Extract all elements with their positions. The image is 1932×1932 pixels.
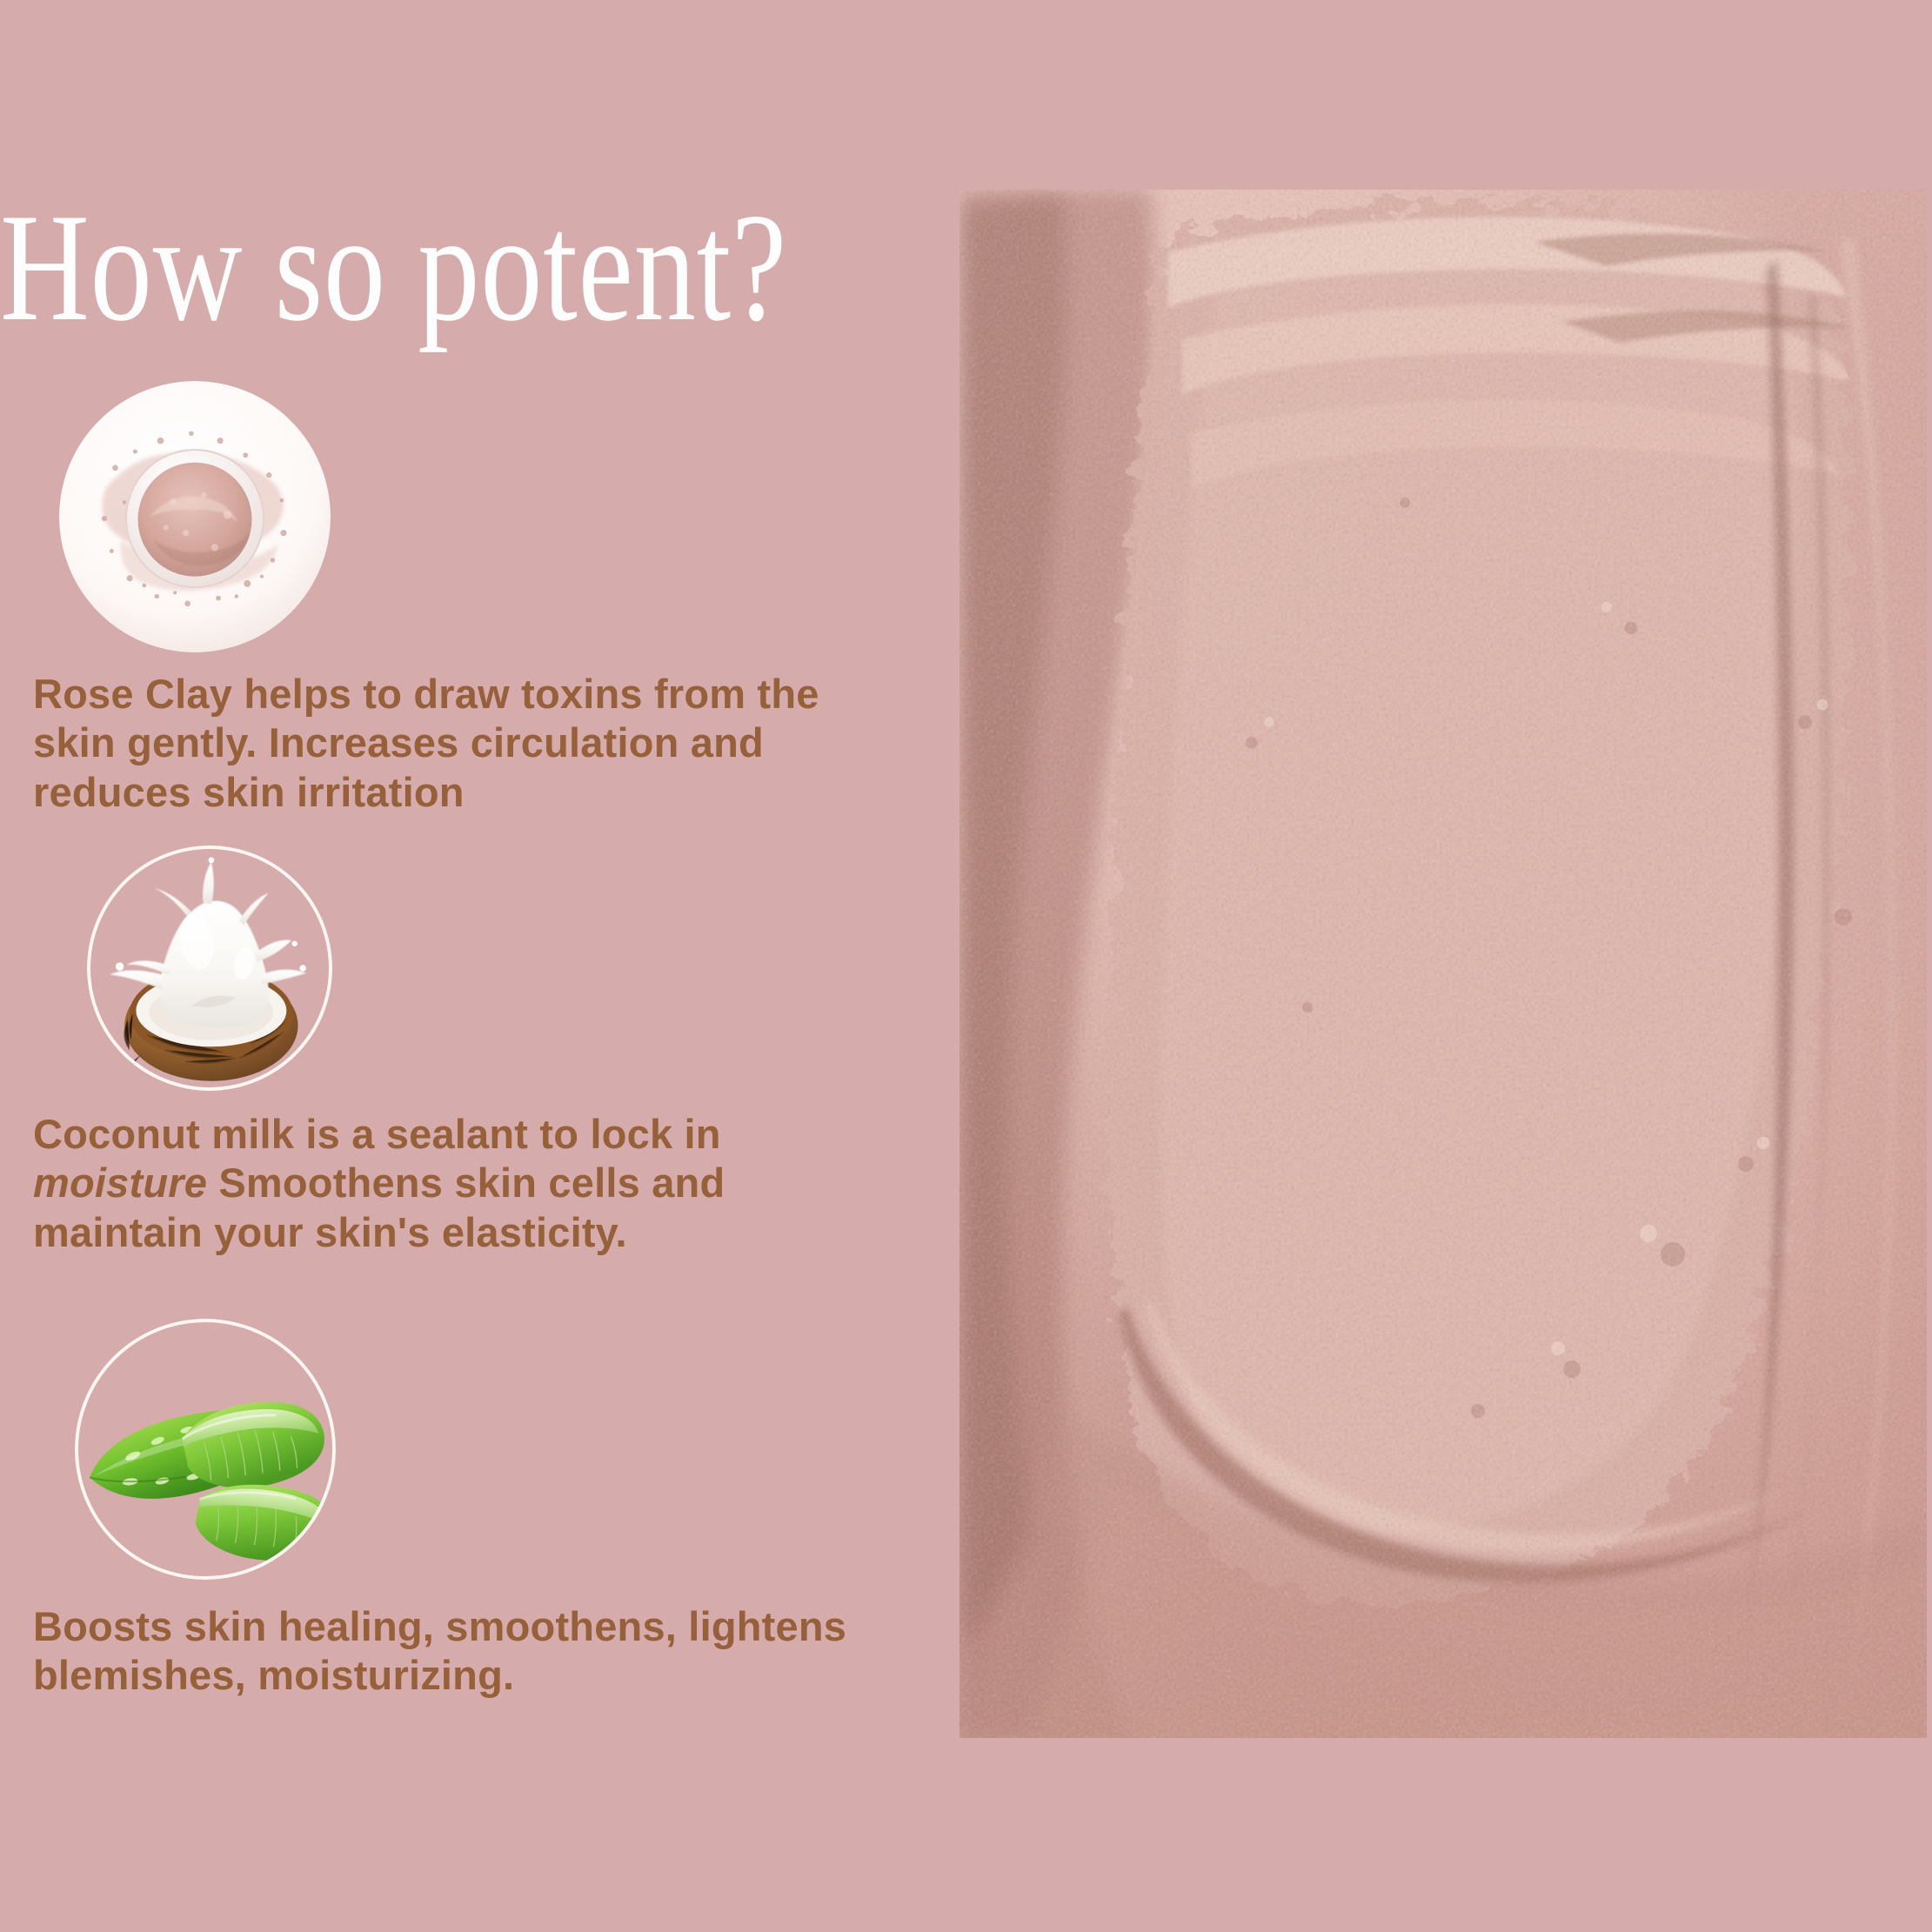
- rose-clay-bowl-icon: [59, 381, 331, 652]
- aloe-vera-leaf-icon: [75, 1319, 336, 1580]
- ingredient-item-aloe-vera: Boosts skin healing, smoothens, lightens…: [0, 1319, 922, 1701]
- coconut-milk-splash-icon: [87, 846, 332, 1091]
- ingredient-description: Boosts skin healing, smoothens, lightens…: [0, 1602, 894, 1701]
- ingredient-text: Rose Clay helps to draw toxins from the …: [33, 671, 819, 815]
- poster-canvas: How so potent?: [0, 0, 1932, 1932]
- ingredient-description: Rose Clay helps to draw toxins from the …: [0, 670, 894, 817]
- ingredient-text: Boosts skin healing, smoothens, lightens…: [33, 1603, 846, 1698]
- pink-clay-powder-texture-photo: [959, 190, 1927, 1738]
- page-title: How so potent?: [0, 184, 738, 350]
- ingredient-item-coconut-milk: Coconut milk is a sealant to lock in moi…: [0, 846, 922, 1257]
- ingredient-text-emphasis: moisture: [33, 1160, 207, 1206]
- ingredient-item-rose-clay: Rose Clay helps to draw toxins from the …: [0, 381, 922, 817]
- ingredient-text-before: Coconut milk is a sealant to lock in: [33, 1111, 721, 1157]
- ingredient-description: Coconut milk is a sealant to lock in moi…: [0, 1110, 894, 1257]
